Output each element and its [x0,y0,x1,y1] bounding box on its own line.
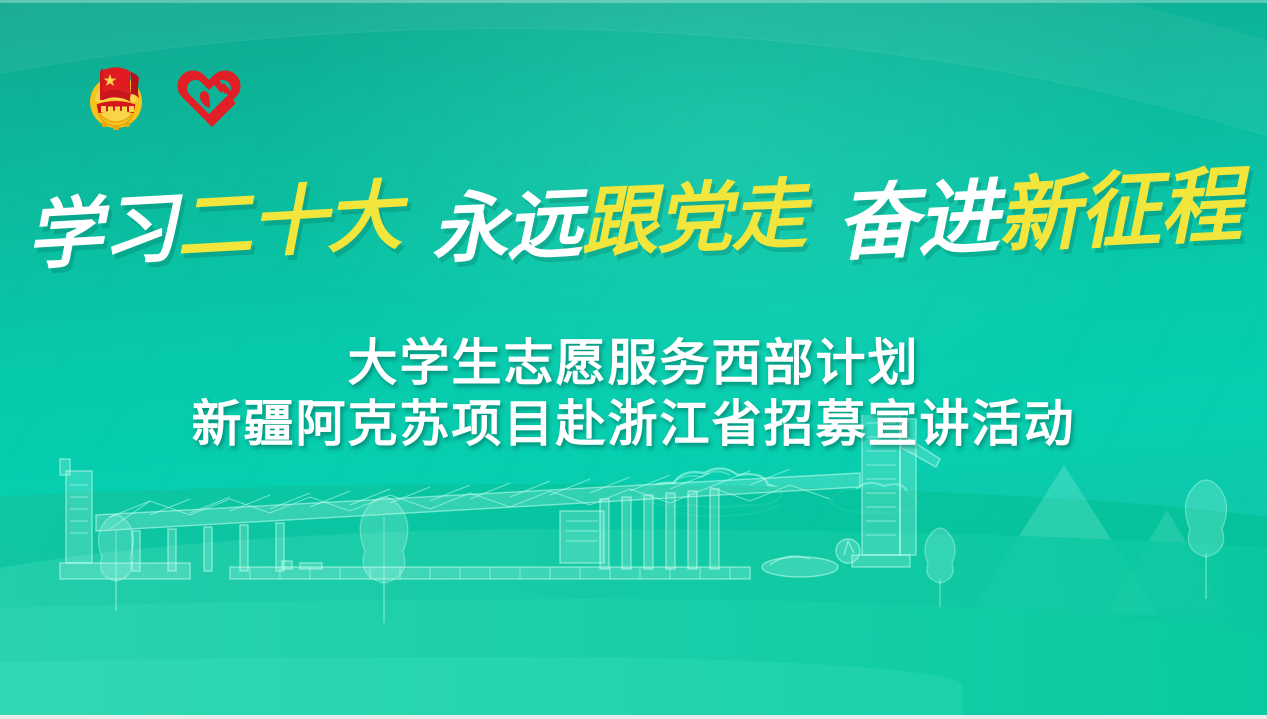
logo-group [82,56,244,134]
subtitle-line-1: 大学生志愿服务西部计划 [0,332,1267,393]
headline-group-3: 奋进 新征程 [834,164,1243,266]
bottom-edge-strip [0,715,1267,719]
volunteer-heart-hand-icon [174,60,244,130]
top-edge-strip [0,0,1267,3]
tree-decoration [0,479,1267,659]
hill-layer-foreground [0,657,963,719]
headline-group-1: 学习 二十大 [24,178,403,275]
headline-1-yellow: 二十大 [174,178,403,266]
subtitle-block: 大学生志愿服务西部计划 新疆阿克苏项目赴浙江省招募宣讲活动 [0,332,1267,454]
communist-youth-league-emblem-icon [82,56,150,134]
subtitle-line-2: 新疆阿克苏项目赴浙江省招募宣讲活动 [0,393,1267,454]
headline-group-2: 永远 跟党走 [429,176,807,268]
headline-3-yellow: 新征程 [996,164,1243,258]
poster-banner: 学习 二十大 永远 跟党走 奋进 新征程 大学生志愿服务西部计划 新疆阿克苏项目… [0,0,1267,719]
headline-3-white: 奋进 [834,176,1000,266]
headline-1-white: 学习 [24,190,178,274]
headline: 学习 二十大 永远 跟党走 奋进 新征程 [0,182,1267,264]
headline-2-white: 永远 [429,186,582,268]
headline-2-yellow: 跟党走 [579,176,807,261]
